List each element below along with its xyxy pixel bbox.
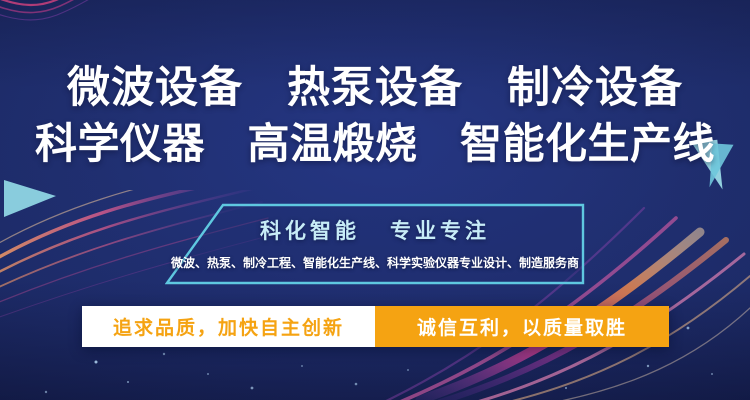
slogan-plaque: 科化智能 专业专注 微波、热泵、制冷工程、智能化生产线、科学实验仪器专业设计、制… <box>165 203 585 285</box>
pill-button-quality[interactable]: 追求品质，加快自主创新 <box>82 306 375 347</box>
slogan-right: 专业专注 <box>390 215 490 245</box>
slogan-row: 科化智能 专业专注 <box>260 215 490 245</box>
headline-line-2: 科学仪器 高温煅烧 智能化生产线 <box>0 116 750 172</box>
pill-button-integrity[interactable]: 诚信互利，以质量取胜 <box>375 306 669 347</box>
promo-banner: 微波设备 热泵设备 制冷设备 科学仪器 高温煅烧 智能化生产线 科化智能 专业专… <box>0 0 750 400</box>
headline-line-1: 微波设备 热泵设备 制冷设备 <box>0 60 750 116</box>
plaque-subtitle: 微波、热泵、制冷工程、智能化生产线、科学实验仪器专业设计、制造服务商 <box>171 254 579 271</box>
headline-block: 微波设备 热泵设备 制冷设备 科学仪器 高温煅烧 智能化生产线 <box>0 60 750 172</box>
slogan-left: 科化智能 <box>260 215 360 245</box>
slogan-pill-group: 追求品质，加快自主创新 诚信互利，以质量取胜 <box>82 306 669 347</box>
